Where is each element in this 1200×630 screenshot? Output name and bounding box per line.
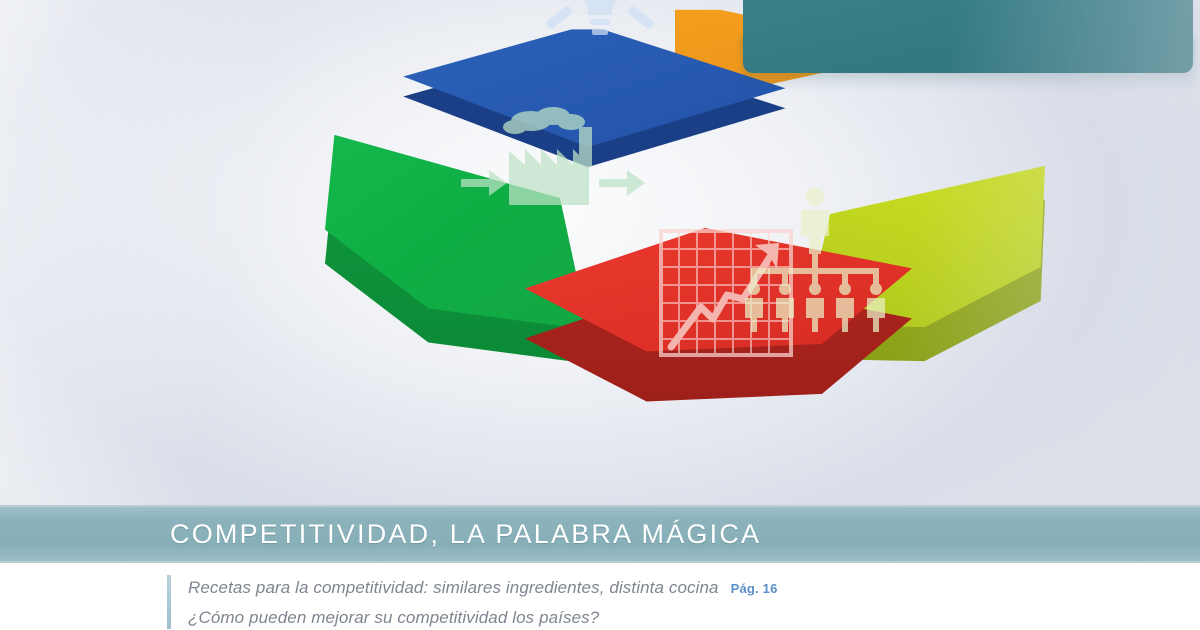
page-root: COMPETITIVIDAD, LA PALABRA MÁGICA Receta…	[0, 0, 1200, 630]
page-reference[interactable]: Pág. 16	[731, 581, 778, 596]
pie-slice-sector-destacado	[743, 0, 1193, 73]
lightbulb-icon	[530, 0, 670, 65]
article-title: Recetas para la competitividad: similare…	[188, 578, 719, 597]
pie-chart-3d	[175, 0, 1035, 505]
article-list: Recetas para la competitividad: similare…	[0, 563, 1200, 630]
factory-icon	[453, 105, 653, 225]
article-title: ¿Cómo pueden mejorar su competitividad l…	[188, 608, 599, 627]
page-title: COMPETITIVIDAD, LA PALABRA MÁGICA	[170, 519, 761, 550]
list-item[interactable]: ¿Cómo pueden mejorar su competitividad l…	[188, 608, 611, 628]
accent-rule	[167, 575, 171, 629]
hero-illustration	[0, 0, 1200, 505]
org-chart-icon	[735, 185, 895, 335]
section-title-bar: COMPETITIVIDAD, LA PALABRA MÁGICA	[0, 505, 1200, 563]
list-item[interactable]: Recetas para la competitividad: similare…	[188, 578, 778, 598]
